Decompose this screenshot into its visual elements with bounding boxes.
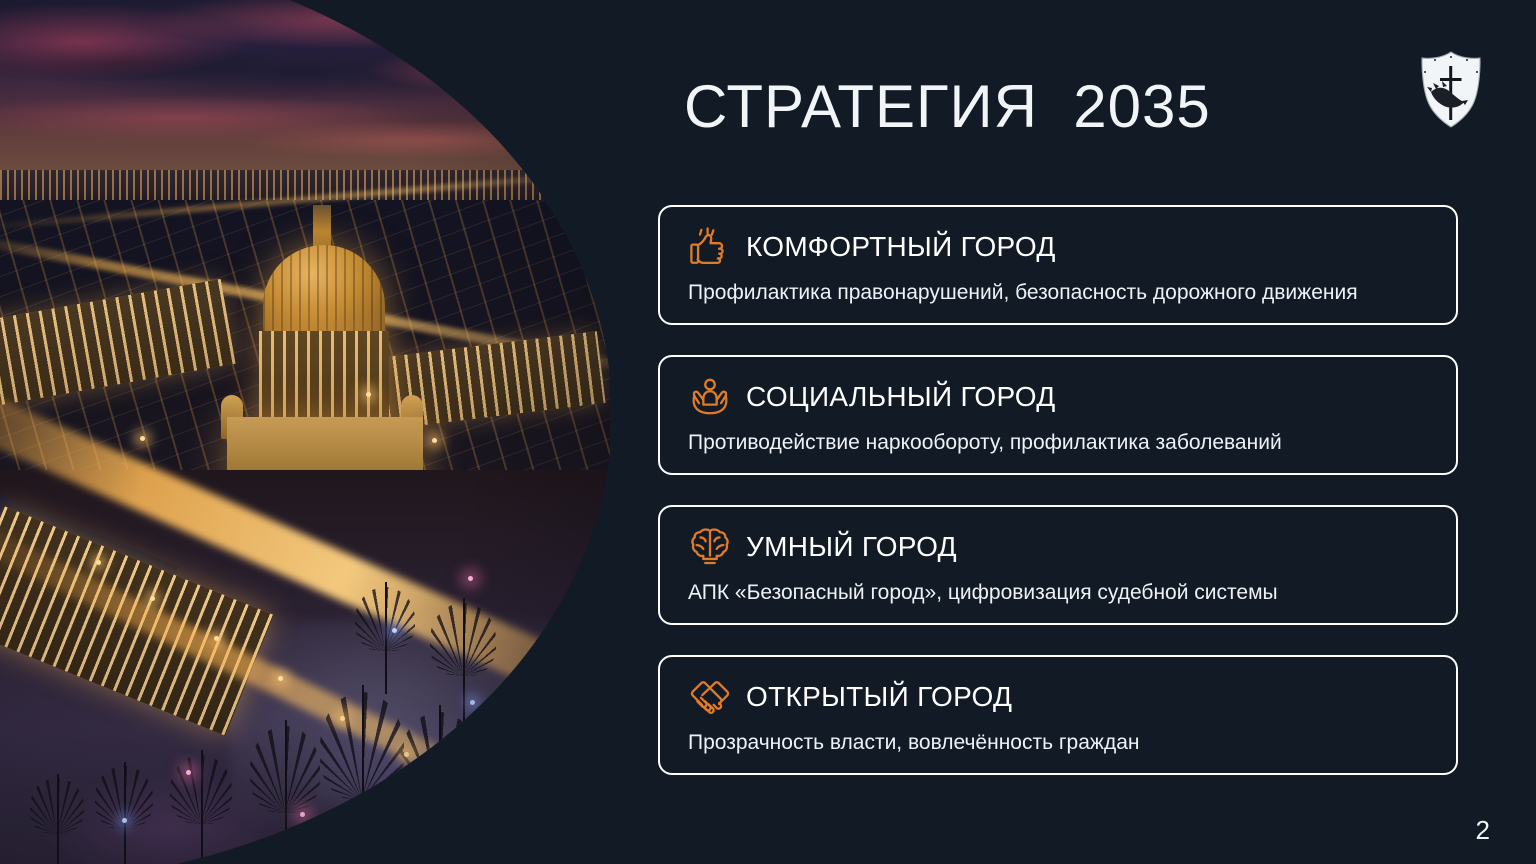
thumbs-up-icon <box>688 225 732 269</box>
photo-canvas <box>0 0 610 864</box>
cool-accent-lamp <box>392 628 397 633</box>
card-title: КОМФОРТНЫЙ ГОРОД <box>746 231 1056 263</box>
card-title: ОТКРЫТЫЙ ГОРОД <box>746 681 1012 713</box>
cathedral-colonnade-drum <box>259 331 389 423</box>
street-lamp <box>214 636 219 641</box>
handshake-icon <box>688 675 732 719</box>
page-title: СТРАТЕГИЯ 2035 <box>684 72 1211 141</box>
card-title: УМНЫЙ ГОРОД <box>746 531 957 563</box>
card-header: ОТКРЫТЫЙ ГОРОД <box>660 657 1456 725</box>
bare-tree <box>170 750 232 864</box>
street-lamp <box>96 560 101 565</box>
card-description: Противодействие наркообороту, профилакти… <box>660 425 1456 455</box>
strategy-cards-list: КОМФОРТНЫЙ ГОРОД Профилактика правонаруш… <box>658 205 1458 805</box>
card-header: СОЦИАЛЬНЫЙ ГОРОД <box>660 357 1456 425</box>
bare-tree <box>320 685 404 864</box>
card-description: Прозрачность власти, вовлечённость гражд… <box>660 725 1456 755</box>
cool-accent-lamp <box>470 700 475 705</box>
bare-tree <box>430 598 496 724</box>
bare-tree <box>30 774 84 864</box>
pink-accent-lamp <box>300 812 305 817</box>
strategy-card-open-city[interactable]: ОТКРЫТЫЙ ГОРОД Прозрачность власти, вовл… <box>658 655 1458 775</box>
card-description: АПК «Безопасный город», цифровизация суд… <box>660 575 1456 605</box>
street-lamp <box>432 438 437 443</box>
card-header: УМНЫЙ ГОРОД <box>660 507 1456 575</box>
card-description: Профилактика правонарушений, безопасност… <box>660 275 1456 305</box>
street-lamp <box>366 392 371 397</box>
street-lamp <box>404 752 409 757</box>
cool-accent-lamp <box>122 818 127 823</box>
strategy-card-social-city[interactable]: СОЦИАЛЬНЫЙ ГОРОД Противодействие наркооб… <box>658 355 1458 475</box>
person-in-hands-icon <box>688 375 732 419</box>
page-number: 2 <box>1476 815 1490 846</box>
strategy-card-comfortable-city[interactable]: КОМФОРТНЫЙ ГОРОД Профилактика правонаруш… <box>658 205 1458 325</box>
bare-tree <box>355 582 415 694</box>
bare-tree <box>400 705 478 864</box>
bare-tree <box>95 762 153 864</box>
pink-accent-lamp <box>186 770 191 775</box>
cathedral-dome <box>263 245 385 341</box>
bare-tree <box>250 720 320 864</box>
strategy-card-smart-city[interactable]: УМНЫЙ ГОРОД АПК «Безопасный город», цифр… <box>658 505 1458 625</box>
card-header: КОМФОРТНЫЙ ГОРОД <box>660 207 1456 275</box>
street-lamp <box>150 596 155 601</box>
bare-tree <box>470 730 540 864</box>
pink-accent-lamp <box>468 576 473 581</box>
presentation-slide: СТРАТЕГИЯ 2035 <box>0 0 1536 864</box>
card-title: СОЦИАЛЬНЫЙ ГОРОД <box>746 381 1056 413</box>
street-lamp <box>140 436 145 441</box>
shield-emblem-logo <box>1418 50 1484 130</box>
saint-petersburg-night-photo <box>0 0 610 864</box>
street-lamp <box>340 716 345 721</box>
brain-bulb-icon <box>688 525 732 569</box>
street-lamp <box>278 676 283 681</box>
